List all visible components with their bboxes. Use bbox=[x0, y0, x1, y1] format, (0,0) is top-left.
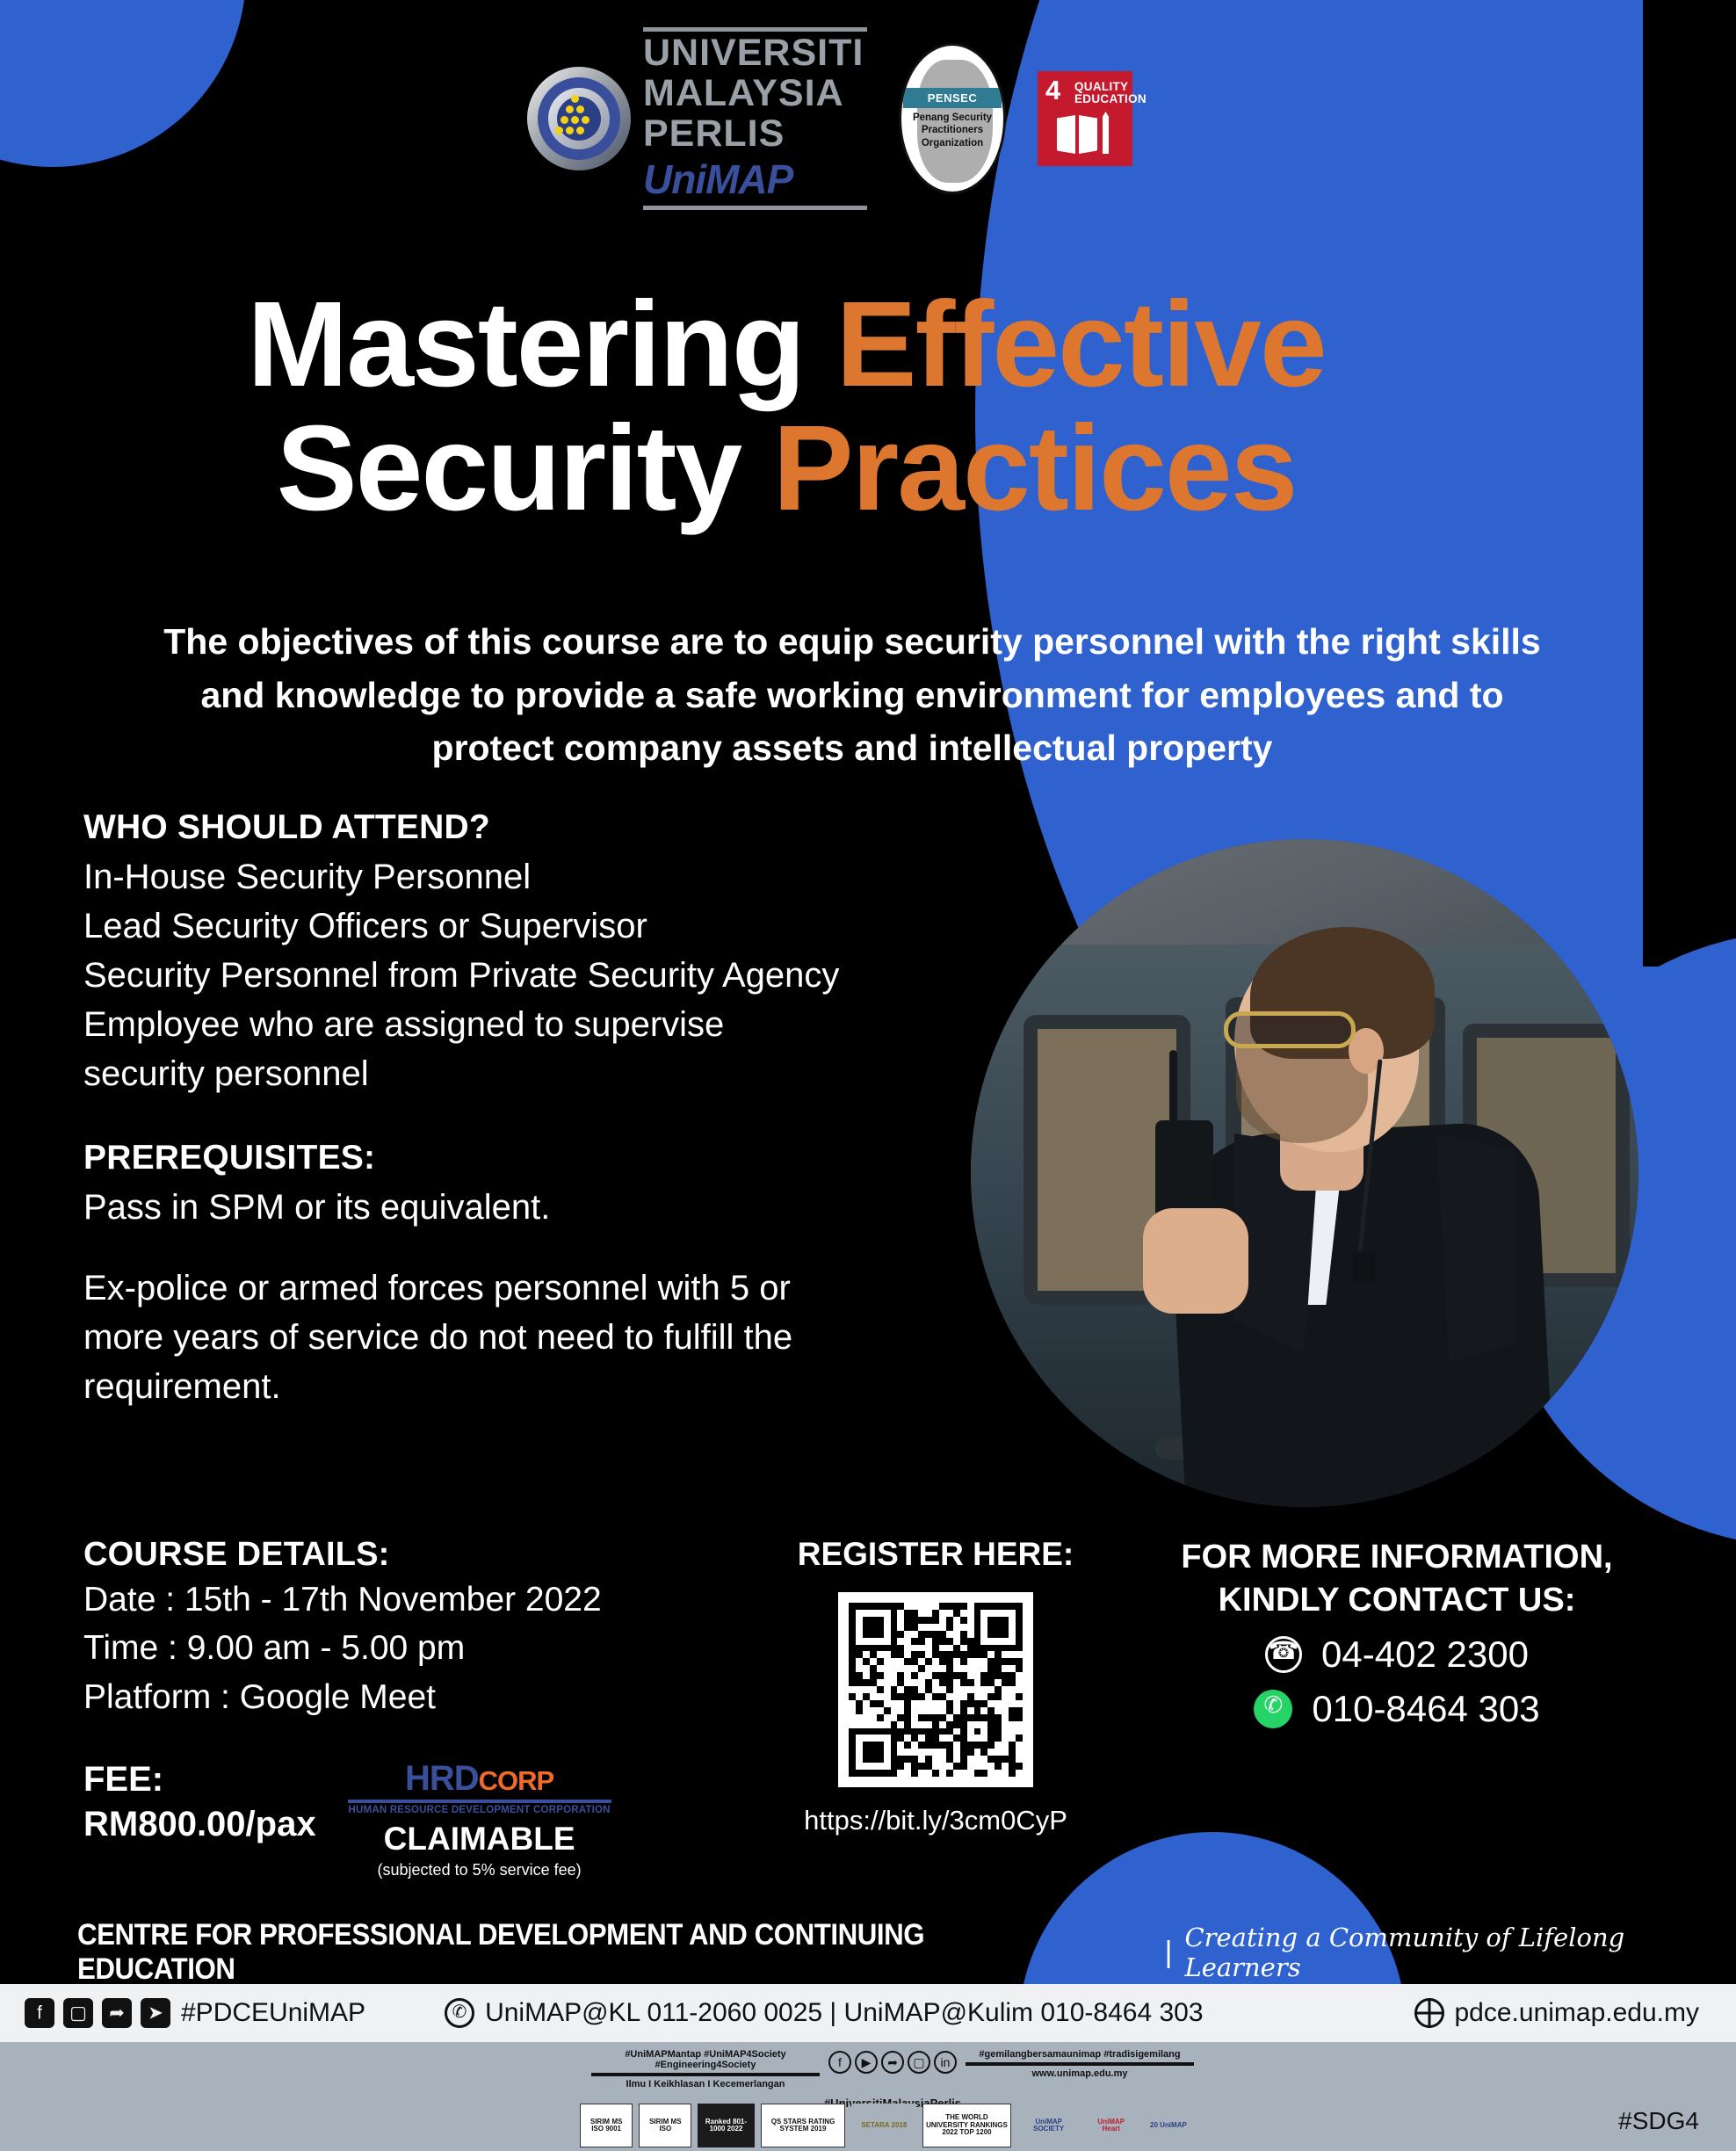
facebook-icon[interactable]: f bbox=[25, 1998, 54, 2028]
phone-icon bbox=[1265, 1636, 1302, 1673]
fee-block: FEE: RM800.00/pax HRD CORP HUMAN RESOURC… bbox=[83, 1757, 698, 1879]
linkedin-icon[interactable]: in bbox=[934, 2051, 957, 2074]
badge-ranked: Ranked 801-1000 2022 bbox=[698, 2104, 754, 2147]
title-word-mastering: Mastering bbox=[247, 277, 804, 412]
left-content-column: WHO SHOULD ATTEND? In-House Security Per… bbox=[83, 808, 962, 1411]
badge-qs-stars: QS STARS RATING SYSTEM 2019 bbox=[761, 2104, 846, 2147]
unimap-line-2: MALAYSIA bbox=[643, 75, 867, 112]
who-should-attend-heading: WHO SHOULD ATTEND? bbox=[83, 808, 962, 847]
whatsapp-outline-icon bbox=[445, 1998, 474, 2028]
footer-whatsapp-block[interactable]: UniMAP@KL 011-2060 0025 | UniMAP@Kulim 0… bbox=[445, 1998, 1204, 2028]
badge-the-rankings: THE WORLD UNIVERSITY RANKINGS 2022 TOP 1… bbox=[922, 2104, 1011, 2147]
prerequisites-para-line-2: more years of service do not need to ful… bbox=[83, 1313, 962, 1362]
open-book-icon bbox=[1057, 115, 1097, 154]
badge-unimap-20: 20 UniMAP bbox=[1142, 2104, 1195, 2147]
hrd-logo-main: HRD bbox=[405, 1759, 479, 1799]
badge-setara: SETARA 2018 bbox=[851, 2104, 916, 2147]
footer-whatsapp-text: UniMAP@KL 011-2060 0025 | UniMAP@Kulim 0… bbox=[485, 1998, 1204, 2028]
header-logos: UNIVERSITI MALAYSIA PERLIS UniMAP PENSEC… bbox=[527, 40, 1221, 198]
facebook-icon[interactable]: f bbox=[828, 2051, 851, 2074]
pensec-name: Penang Security Practitioners Organizati… bbox=[913, 112, 992, 149]
grey-band-social-icons: f ▶ ➦ ▢ in bbox=[828, 2051, 957, 2074]
hrd-claimable-label: CLAIMABLE bbox=[348, 1821, 611, 1858]
pensec-logo: PENSEC Penang Security Practitioners Org… bbox=[899, 43, 1006, 194]
course-details-heading: COURSE DETAILS: bbox=[83, 1536, 716, 1574]
prerequisites-heading: PREREQUISITES: bbox=[83, 1139, 962, 1177]
pensec-name-line-1: Penang Security bbox=[913, 112, 992, 124]
sdg-label: QUALITY EDUCATION bbox=[1074, 81, 1146, 105]
sdg-label-line-2: EDUCATION bbox=[1074, 93, 1146, 105]
pensec-ribbon-label: PENSEC bbox=[903, 88, 1002, 108]
centre-tagline: Creating a Community of Lifelong Learner… bbox=[1184, 1923, 1736, 1982]
hrd-service-fee-note: (subjected to 5% service fee) bbox=[348, 1861, 611, 1879]
fee-label: FEE: bbox=[83, 1757, 316, 1802]
footer-contact-bar: f ▢ ➦ ➤ #PDCEUniMAP UniMAP@KL 011-2060 0… bbox=[0, 1984, 1736, 2042]
black-mask-right bbox=[1643, 0, 1736, 967]
footer-social-handle: #PDCEUniMAP bbox=[181, 1998, 365, 2028]
course-details-block: COURSE DETAILS: Date : 15th - 17th Novem… bbox=[83, 1536, 716, 1721]
pensec-name-line-3: Organization bbox=[913, 137, 992, 149]
contact-whatsapp-row[interactable]: 010-8464 303 bbox=[1133, 1688, 1660, 1730]
youtube-icon[interactable]: ▶ bbox=[855, 2051, 878, 2074]
unimap-line-3: PERLIS bbox=[643, 115, 867, 153]
blue-blob-top-left bbox=[0, 0, 246, 167]
contact-heading-line-2: KINDLY CONTACT US: bbox=[1133, 1579, 1660, 1622]
sdg-number: 4 bbox=[1045, 78, 1060, 103]
who-item-4: Employee who are assigned to supervise bbox=[83, 1000, 962, 1049]
badge-unimap-society: UniMAP SOCIETY bbox=[1017, 2104, 1081, 2147]
prerequisites-para-line-3: requirement. bbox=[83, 1362, 962, 1411]
title-word-practices: Practices bbox=[773, 401, 1297, 536]
hrd-subtitle: HUMAN RESOURCE DEVELOPMENT CORPORATION bbox=[348, 1805, 611, 1815]
footer-social-icons: f ▢ ➦ ➤ bbox=[25, 1998, 170, 2028]
centre-name: CENTRE FOR PROFESSIONAL DEVELOPMENT AND … bbox=[77, 1918, 1067, 1987]
contact-heading-line-1: FOR MORE INFORMATION, bbox=[1133, 1536, 1660, 1579]
title-line-1: Mastering Effective bbox=[0, 283, 1573, 407]
centre-strip: CENTRE FOR PROFESSIONAL DEVELOPMENT AND … bbox=[0, 1921, 1736, 1984]
who-item-3: Security Personnel from Private Security… bbox=[83, 951, 962, 1000]
whatsapp-icon bbox=[1254, 1690, 1292, 1728]
contact-phone-number: 04-402 2300 bbox=[1321, 1633, 1529, 1676]
unimap-acronym: UniMAP bbox=[643, 156, 867, 203]
footer-website-block[interactable]: pdce.unimap.edu.my bbox=[1414, 1998, 1700, 2028]
security-guard-photo bbox=[971, 839, 1638, 1507]
badge-unimap-heart: UniMAP Heart bbox=[1087, 2104, 1136, 2147]
course-date: Date : 15th - 17th November 2022 bbox=[83, 1575, 716, 1624]
unimap-logo: UNIVERSITI MALAYSIA PERLIS UniMAP bbox=[527, 27, 867, 210]
fee-text: FEE: RM800.00/pax bbox=[83, 1757, 316, 1847]
register-url[interactable]: https://bit.ly/3cm0CyP bbox=[738, 1805, 1133, 1836]
who-item-5: security personnel bbox=[83, 1049, 962, 1098]
centre-divider: | bbox=[1165, 1936, 1173, 1970]
badge-sirim-2: SIRIM MS ISO bbox=[639, 2104, 691, 2147]
twitter-icon[interactable]: ➦ bbox=[102, 1998, 132, 2028]
contact-phone-row[interactable]: 04-402 2300 bbox=[1133, 1633, 1660, 1676]
twitter-icon[interactable]: ➦ bbox=[881, 2051, 904, 2074]
instagram-icon[interactable]: ▢ bbox=[63, 1998, 93, 2028]
unimap-wordmark: UNIVERSITI MALAYSIA PERLIS UniMAP bbox=[643, 27, 867, 210]
contact-whatsapp-number: 010-8464 303 bbox=[1312, 1688, 1539, 1730]
who-item-2: Lead Security Officers or Supervisor bbox=[83, 902, 962, 951]
pensec-name-line-2: Practitioners bbox=[913, 124, 992, 136]
grey-band-left-hashtags: #UniMAPMantap #UniMAP4Society #Engineeri… bbox=[591, 2049, 820, 2070]
unimap-line-1: UNIVERSITI bbox=[643, 34, 867, 72]
register-heading: REGISTER HERE: bbox=[738, 1536, 1133, 1573]
hrd-corp-block: HRD CORP HUMAN RESOURCE DEVELOPMENT CORP… bbox=[348, 1759, 611, 1879]
badge-sirim-1: SIRIM MS ISO 9001 bbox=[580, 2104, 633, 2147]
hrdcorp-logo: HRD CORP bbox=[348, 1759, 611, 1799]
accreditation-badges: SIRIM MS ISO 9001 SIRIM MS ISO Ranked 80… bbox=[580, 2102, 1195, 2149]
unimap-swirl-icon bbox=[527, 67, 631, 170]
prerequisites-line-1: Pass in SPM or its equivalent. bbox=[83, 1183, 962, 1232]
title-word-effective: Effective bbox=[835, 277, 1325, 412]
sdg-label-line-1: QUALITY bbox=[1074, 81, 1146, 93]
grey-band-top-row: #UniMAPMantap #UniMAP4Society #Engineeri… bbox=[559, 2049, 1226, 2089]
hrd-rule bbox=[348, 1800, 611, 1803]
course-platform: Platform : Google Meet bbox=[83, 1673, 716, 1721]
registration-qr-code[interactable] bbox=[838, 1592, 1033, 1787]
sdg4-hashtag: #SDG4 bbox=[1618, 2107, 1699, 2135]
hrd-logo-corp: CORP bbox=[479, 1765, 554, 1797]
instagram-icon[interactable]: ▢ bbox=[908, 2051, 930, 2074]
grey-band-left-motto: Ilmu I Keikhlasan I Kecemerlangan bbox=[591, 2079, 820, 2089]
title-line-2: Security Practices bbox=[0, 407, 1573, 531]
grey-band-right-hashtags: #gemilangbersamaunimap #tradisigemilang bbox=[966, 2049, 1194, 2060]
grey-band-left-col: #UniMAPMantap #UniMAP4Society #Engineeri… bbox=[591, 2049, 820, 2089]
telegram-icon[interactable]: ➤ bbox=[141, 1998, 170, 2028]
pencil-icon bbox=[1103, 112, 1109, 154]
grey-band-right-website: www.unimap.edu.my bbox=[966, 2068, 1194, 2079]
fee-amount: RM800.00/pax bbox=[83, 1802, 316, 1847]
globe-icon bbox=[1414, 1998, 1444, 2028]
course-time: Time : 9.00 am - 5.00 pm bbox=[83, 1624, 716, 1672]
title-word-security: Security bbox=[277, 401, 741, 536]
who-item-1: In-House Security Personnel bbox=[83, 852, 962, 902]
poster-root: UNIVERSITI MALAYSIA PERLIS UniMAP PENSEC… bbox=[0, 0, 1736, 2151]
footer-website: pdce.unimap.edu.my bbox=[1455, 1998, 1700, 2028]
prerequisites-para-line-1: Ex-police or armed forces personnel with… bbox=[83, 1264, 962, 1313]
grey-band-right-col: #gemilangbersamaunimap #tradisigemilang … bbox=[966, 2049, 1194, 2079]
objectives-paragraph: The objectives of this course are to equ… bbox=[141, 615, 1564, 775]
sdg4-badge: 4 QUALITY EDUCATION bbox=[1038, 71, 1132, 166]
sunglasses-icon bbox=[1224, 1011, 1356, 1048]
contact-block: FOR MORE INFORMATION, KINDLY CONTACT US:… bbox=[1133, 1536, 1660, 1730]
poster-title: Mastering Effective Security Practices bbox=[0, 283, 1573, 531]
register-block: REGISTER HERE: https://bit.ly/3cm0CyP bbox=[738, 1536, 1133, 1836]
unimap-rule-bottom bbox=[643, 206, 867, 210]
